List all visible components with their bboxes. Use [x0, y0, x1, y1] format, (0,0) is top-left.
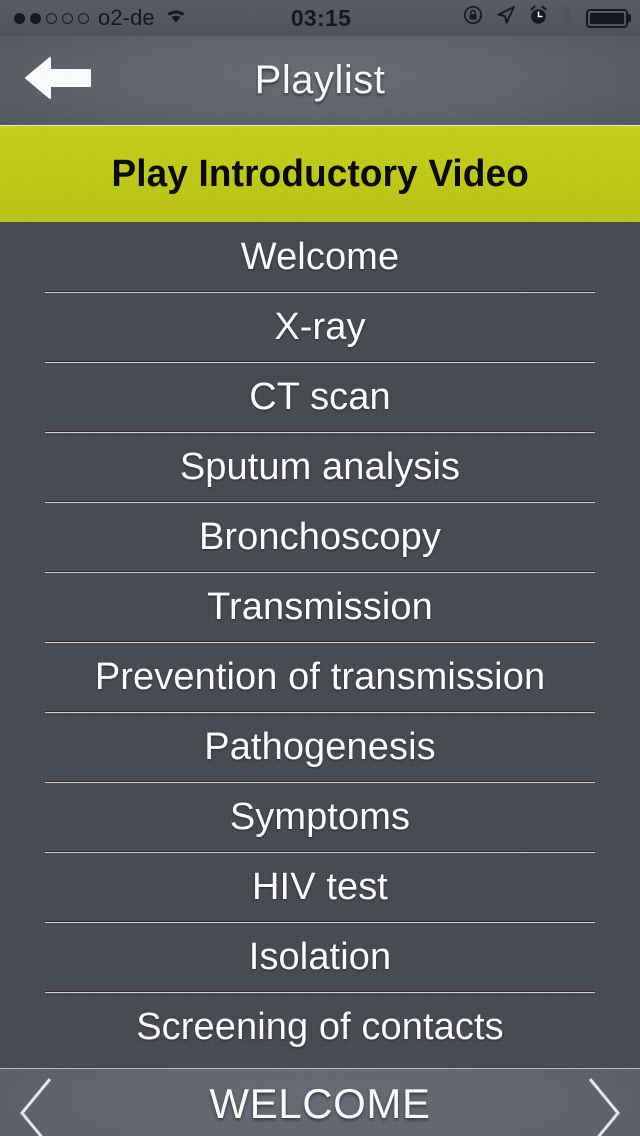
playlist-list: Welcome X-ray CT scan Sputum analysis Br…: [0, 222, 640, 1062]
play-introductory-video-button[interactable]: Play Introductory Video: [0, 126, 640, 222]
list-item[interactable]: CT scan: [0, 362, 640, 432]
list-item[interactable]: Symptoms: [0, 782, 640, 852]
battery-full-icon: [586, 9, 628, 28]
previous-button[interactable]: [10, 1073, 62, 1136]
back-arrow-icon: [24, 54, 94, 107]
list-item-label: Screening of contacts: [136, 1006, 504, 1049]
list-item[interactable]: Welcome: [0, 222, 640, 292]
current-track-label: WELCOME: [209, 1069, 430, 1125]
list-item-label: Transmission: [207, 586, 433, 629]
list-item-label: Bronchoscopy: [199, 516, 441, 559]
navigation-bar: Playlist: [0, 36, 640, 126]
bottom-toolbar: WELCOME: [0, 1068, 640, 1136]
app-screen: o2-de 03:15: [0, 0, 640, 1136]
list-item-label: HIV test: [252, 866, 388, 909]
list-item[interactable]: Isolation: [0, 922, 640, 992]
location-arrow-icon: [495, 4, 517, 32]
status-bar: o2-de 03:15: [0, 0, 640, 36]
list-item-label: Prevention of transmission: [95, 656, 545, 699]
list-item-label: CT scan: [249, 376, 391, 419]
list-item-label: Pathogenesis: [204, 726, 435, 769]
list-item-label: Isolation: [249, 936, 391, 979]
list-item[interactable]: X-ray: [0, 292, 640, 362]
signal-strength-icon: [14, 13, 89, 24]
next-button[interactable]: [578, 1073, 630, 1136]
alarm-clock-icon: [528, 5, 549, 32]
list-item[interactable]: Sputum analysis: [0, 432, 640, 502]
status-bar-left: o2-de: [0, 5, 291, 31]
list-item[interactable]: Pathogenesis: [0, 712, 640, 782]
wifi-icon: [164, 6, 188, 30]
page-title: Playlist: [255, 58, 386, 103]
carrier-label: o2-de: [98, 5, 155, 31]
list-item-label: Sputum analysis: [180, 446, 460, 489]
status-bar-right: [351, 4, 640, 32]
list-item-label: X-ray: [274, 306, 365, 349]
list-item[interactable]: Transmission: [0, 572, 640, 642]
list-item[interactable]: Screening of contacts: [0, 992, 640, 1062]
back-button[interactable]: [24, 54, 96, 108]
list-item-label: Welcome: [241, 236, 399, 279]
rotation-lock-icon: [462, 4, 484, 32]
play-introductory-video-label: Play Introductory Video: [111, 153, 529, 196]
status-bar-clock: 03:15: [291, 5, 351, 32]
list-item-label: Symptoms: [230, 796, 410, 839]
bluetooth-icon: [560, 4, 575, 32]
list-item[interactable]: Prevention of transmission: [0, 642, 640, 712]
list-item[interactable]: Bronchoscopy: [0, 502, 640, 572]
list-item[interactable]: HIV test: [0, 852, 640, 922]
